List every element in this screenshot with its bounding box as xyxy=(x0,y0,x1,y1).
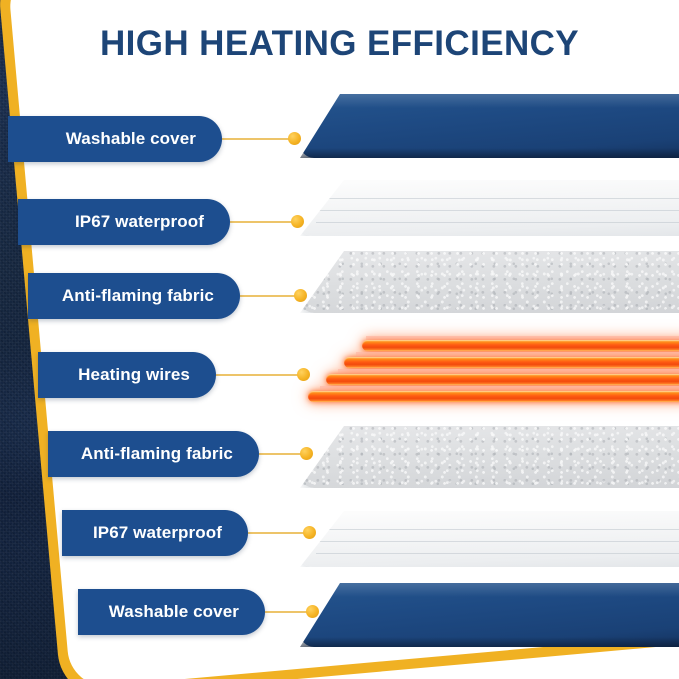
connector-dot-7 xyxy=(306,605,319,618)
content-area: HIGH HEATING EFFICIENCY xyxy=(0,0,679,679)
connector-line-5 xyxy=(259,453,303,455)
layer-stack-diagram xyxy=(300,88,679,658)
label-text: Anti-flaming fabric xyxy=(81,444,233,464)
connector-dot-1 xyxy=(288,132,301,145)
connector-line-2 xyxy=(230,221,294,223)
fabric-speckle-texture xyxy=(300,251,679,313)
connector-dot-6 xyxy=(303,526,316,539)
connector-line-6 xyxy=(248,532,306,534)
navy-highlight xyxy=(300,583,679,597)
label-text: Heating wires xyxy=(78,365,190,385)
label-pill-washable-cover-top[interactable]: Washable cover xyxy=(8,116,222,162)
heating-wire xyxy=(308,391,679,402)
connector-dot-3 xyxy=(294,289,307,302)
membrane-seam xyxy=(316,541,679,542)
heating-wire xyxy=(344,357,679,368)
label-pill-washable-cover-bottom[interactable]: Washable cover xyxy=(78,589,265,635)
connector-line-4 xyxy=(216,374,300,376)
label-text: Anti-flaming fabric xyxy=(62,286,214,306)
connector-line-7 xyxy=(265,611,309,613)
membrane-seam xyxy=(316,198,679,199)
membrane-seam xyxy=(316,222,679,223)
label-pill-anti-flaming-fabric-bottom[interactable]: Anti-flaming fabric xyxy=(48,431,259,477)
heating-wire xyxy=(362,340,679,351)
connector-dot-5 xyxy=(300,447,313,460)
navy-highlight xyxy=(300,94,679,108)
heating-wire xyxy=(326,374,679,385)
layer-heating-wires xyxy=(300,336,679,406)
navy-shadow xyxy=(300,637,679,647)
membrane-seam xyxy=(316,553,679,554)
label-text: IP67 waterproof xyxy=(93,523,222,543)
connector-line-3 xyxy=(240,295,297,297)
fabric-speckle-texture xyxy=(300,426,679,488)
membrane-seam xyxy=(316,210,679,211)
layer-white-membrane-top xyxy=(300,180,679,236)
layer-navy-cover-bottom xyxy=(300,583,679,647)
infographic-canvas: HIGH HEATING EFFICIENCY xyxy=(0,0,679,679)
connector-dot-4 xyxy=(297,368,310,381)
connector-line-1 xyxy=(222,138,292,140)
page-title: HIGH HEATING EFFICIENCY xyxy=(0,24,679,64)
label-pill-heating-wires[interactable]: Heating wires xyxy=(38,352,216,398)
label-pill-ip67-waterproof-bottom[interactable]: IP67 waterproof xyxy=(62,510,248,556)
layer-navy-cover-top xyxy=(300,94,679,158)
membrane-seam xyxy=(316,529,679,530)
connector-dot-2 xyxy=(291,215,304,228)
label-pill-anti-flaming-fabric-top[interactable]: Anti-flaming fabric xyxy=(28,273,240,319)
label-text: Washable cover xyxy=(109,602,239,622)
label-text: IP67 waterproof xyxy=(75,212,204,232)
label-pill-ip67-waterproof-top[interactable]: IP67 waterproof xyxy=(18,199,230,245)
layer-white-membrane-bottom xyxy=(300,511,679,567)
label-text: Washable cover xyxy=(66,129,196,149)
layer-grey-fabric-bottom xyxy=(300,426,679,488)
layer-grey-fabric-top xyxy=(300,251,679,313)
navy-shadow xyxy=(300,148,679,158)
